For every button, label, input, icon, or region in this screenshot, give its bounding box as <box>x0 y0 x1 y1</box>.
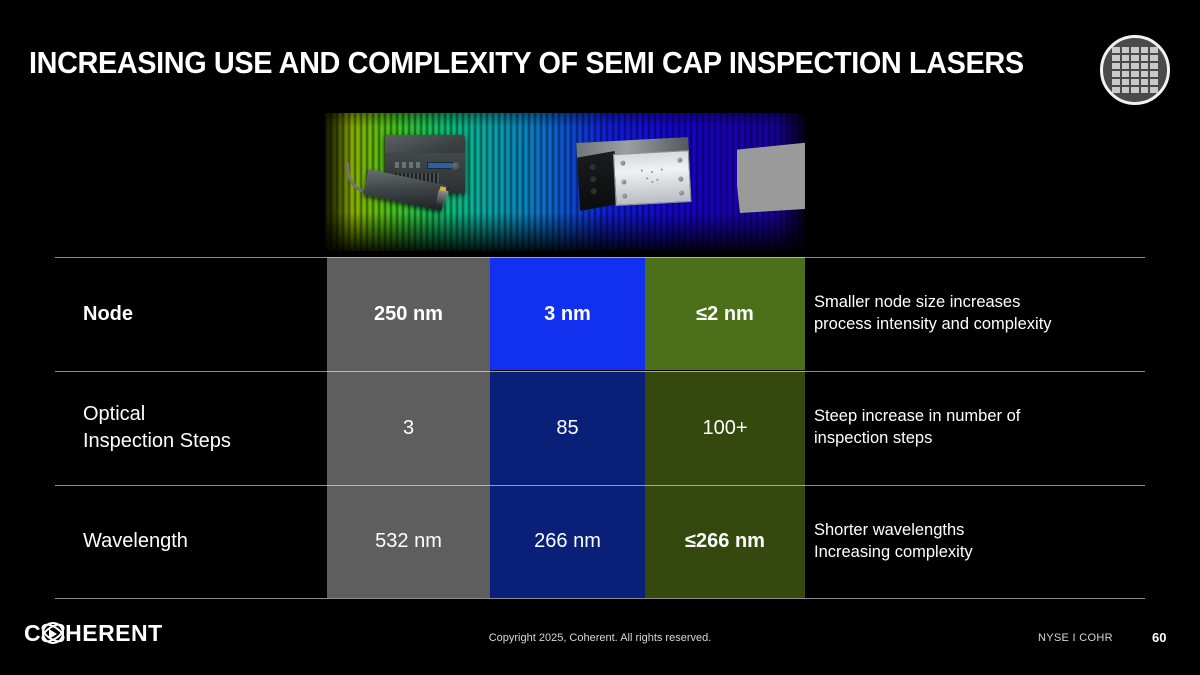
cell-note: Steep increase in number of inspection s… <box>814 371 1184 485</box>
page-number: 60 <box>1152 630 1166 645</box>
cell-gen3: ≤266 nm <box>645 485 805 598</box>
copyright-text: Copyright 2025, Coherent. All rights res… <box>0 632 1200 644</box>
note-line: Smaller node size increases <box>814 292 1052 314</box>
note-line: Increasing complexity <box>814 542 973 564</box>
cell-note: Shorter wavelengths Increasing complexit… <box>814 485 1184 598</box>
row-label: Optical Inspection Steps <box>83 371 323 485</box>
table-row: Node 250 nm 3 nm ≤2 nm Smaller node size… <box>0 257 1200 371</box>
logo-play-triangle <box>49 629 57 639</box>
row-label: Node <box>83 257 323 371</box>
cell-gen2: 3 nm <box>490 257 645 371</box>
cell-gen1: 3 <box>327 371 490 485</box>
table-row: Optical Inspection Steps 3 85 100+ Steep… <box>0 371 1200 485</box>
cell-note: Smaller node size increases process inte… <box>814 257 1184 371</box>
note-line: Shorter wavelengths <box>814 520 973 542</box>
row-label: Wavelength <box>83 485 323 598</box>
row-label-line: Inspection Steps <box>83 428 231 455</box>
cell-gen2: 85 <box>490 371 645 485</box>
row-label-line: Optical <box>83 401 231 428</box>
note-line: Steep increase in number of <box>814 406 1020 428</box>
table-divider <box>55 598 1145 599</box>
cell-gen3: 100+ <box>645 371 805 485</box>
note-line: inspection steps <box>814 428 1020 450</box>
note-line: process intensity and complexity <box>814 314 1052 336</box>
cell-gen2: 266 nm <box>490 485 645 598</box>
comparison-table: Node 250 nm 3 nm ≤2 nm Smaller node size… <box>0 0 1200 675</box>
cell-gen3: ≤2 nm <box>645 257 805 371</box>
cell-gen1: 532 nm <box>327 485 490 598</box>
slide-canvas: INCREASING USE AND COMPLEXITY OF SEMI CA… <box>0 0 1200 675</box>
table-row: Wavelength 532 nm 266 nm ≤266 nm Shorter… <box>0 485 1200 598</box>
cell-gen1: 250 nm <box>327 257 490 371</box>
stock-ticker: NYSE I COHR <box>1038 632 1113 644</box>
